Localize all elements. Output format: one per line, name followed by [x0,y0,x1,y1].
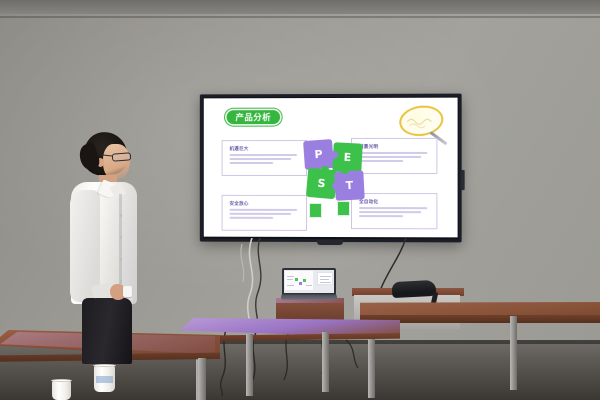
presentation-clicker[interactable] [123,286,132,297]
slide-title: 产品分析 [227,110,281,124]
tv-screen: 产品分析 机遇巨大 前景光明 [204,98,458,238]
presentation-room-photo: 产品分析 机遇巨大 前景光明 [0,0,600,400]
shirt-button [120,214,123,217]
preview-line [287,285,294,286]
table-leg [510,316,517,390]
info-box-body-lines [359,207,430,219]
laptop-slide-preview [285,271,313,290]
wall-ceiling-seam [0,16,600,18]
paper-cup-2 [94,366,115,392]
pest-puzzle-diagram: P E S T [303,138,365,202]
notes-line [320,276,331,277]
laptop-screen [284,270,334,293]
info-box-body-lines [230,209,301,221]
presenter-laptop[interactable] [281,268,337,302]
tv-mount-nub [317,240,343,245]
magnifier-scribble [405,113,437,131]
presenter-face [103,144,130,179]
info-box-top-left: 机遇巨大 [222,140,307,176]
notes-line [320,279,329,280]
puzzle-knob [330,151,338,159]
preview-line [287,279,293,280]
cup-rim [51,379,72,382]
shirt-placket [119,194,122,294]
shirt-button [120,280,123,283]
laptop-base[interactable] [280,294,337,299]
puzzle-knob [332,182,340,190]
tv-side-port [461,170,465,190]
preview-line [287,276,294,277]
presentation-slide: 产品分析 机遇巨大 前景光明 [204,98,458,238]
puzzle-letter: S [317,177,326,191]
preview-purple-marker [299,282,302,285]
puzzle-knob [341,166,349,174]
info-box-body-lines [359,152,430,164]
puzzle-knob [321,166,329,174]
laptop-lid [282,268,336,295]
laptop-notes-panel [317,272,333,285]
puzzle-letter: T [345,179,353,192]
wall-mounted-tv[interactable]: 产品分析 机遇巨大 前景光明 [200,94,462,243]
info-box-heading: 安全放心 [230,201,249,207]
shirt-button [120,258,123,261]
paper-cup-3 [52,381,71,400]
table-leg [322,332,329,392]
info-box-heading: 机遇巨大 [230,146,249,152]
presenter [66,132,142,364]
preview-green-marker [303,279,306,282]
cup-band [96,376,114,383]
black-bag [392,280,437,298]
preview-green-marker [295,278,298,281]
info-box-body-lines [230,154,301,166]
cup-rim [93,364,116,367]
glasses-icon [112,152,132,161]
table-leg [198,358,206,400]
puzzle-letter: E [343,151,351,164]
puzzle-letter: P [314,148,323,162]
presenter-trousers [82,298,132,364]
shirt-button [120,236,123,239]
preview-line [306,285,312,286]
table-leg [246,334,253,396]
green-marker-bottom-right [337,201,350,216]
info-box-bottom-left: 安全放心 [222,195,307,231]
notes-line [320,282,331,283]
green-marker-bottom-left [309,203,322,218]
